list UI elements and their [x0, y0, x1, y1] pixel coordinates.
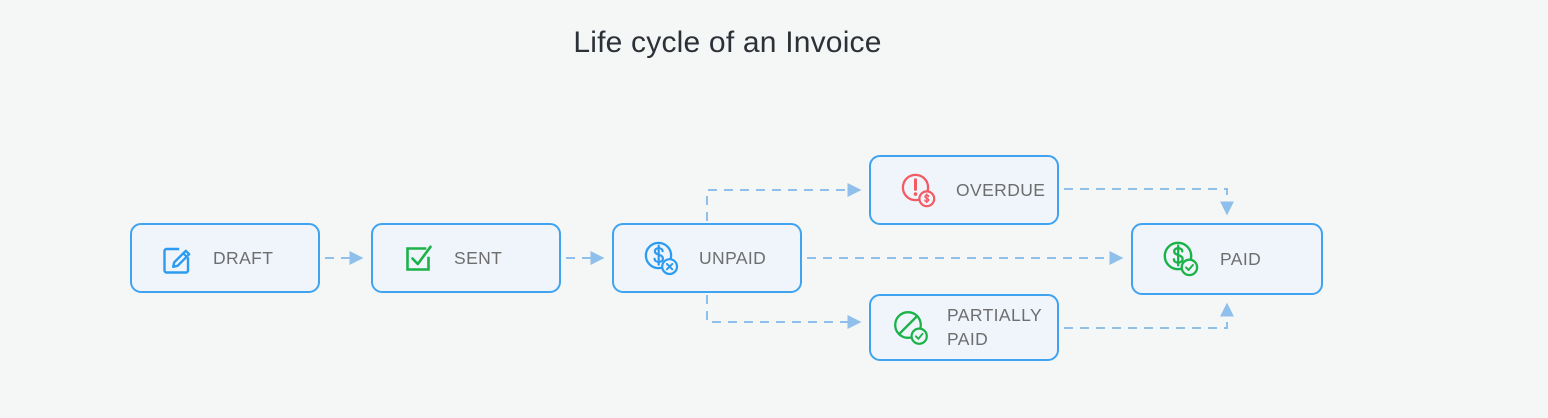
edge-unpaid-partially: [707, 295, 860, 322]
node-label-draft: DRAFT: [213, 246, 273, 271]
node-overdue[interactable]: OVERDUE: [869, 155, 1059, 225]
document-pencil-icon: [158, 239, 196, 277]
edge-unpaid-overdue: [707, 190, 860, 221]
node-unpaid[interactable]: UNPAID: [612, 223, 802, 293]
node-label-overdue: OVERDUE: [956, 178, 1045, 203]
node-sent[interactable]: SENT: [371, 223, 561, 293]
pie-half-check-icon: [889, 306, 933, 350]
node-label-paid: PAID: [1220, 247, 1261, 272]
node-label-partially-paid: PARTIALLY PAID: [947, 304, 1042, 351]
dollar-circle-check-icon: [1159, 237, 1203, 281]
diagram-canvas: Life cycle of an Invoice: [0, 0, 1548, 418]
edge-partially-paid: [1064, 304, 1227, 328]
edge-overdue-paid: [1064, 189, 1227, 214]
square-check-icon: [399, 239, 437, 277]
connector-layer: [0, 0, 1548, 418]
dollar-circle-x-icon: [640, 237, 682, 279]
node-label-unpaid: UNPAID: [699, 246, 766, 271]
alert-dollar-icon: [897, 169, 939, 211]
node-draft[interactable]: DRAFT: [130, 223, 320, 293]
node-label-sent: SENT: [454, 246, 502, 271]
node-paid[interactable]: PAID: [1131, 223, 1323, 295]
node-partially-paid[interactable]: PARTIALLY PAID: [869, 294, 1059, 361]
